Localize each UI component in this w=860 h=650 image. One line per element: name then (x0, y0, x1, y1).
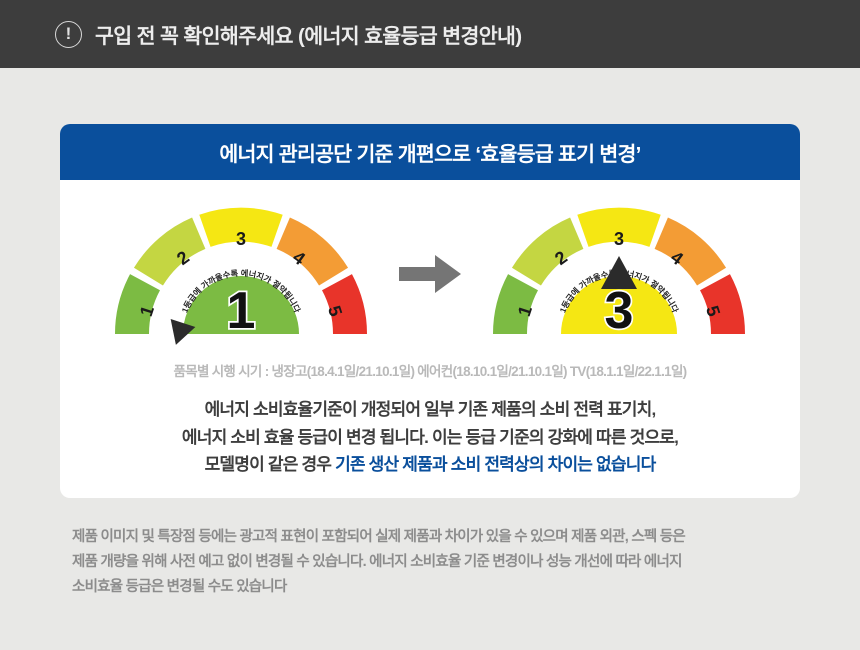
segment-label-3: 3 (236, 229, 246, 249)
gauge-after: 1 2 3 4 5 1등급에 가까울수록 에너지가 절약됩니다 3 (489, 201, 749, 347)
segment-4 (661, 233, 711, 276)
notice-card-title: 에너지 관리공단 기준 개편으로 ‘효율등급 표기 변경’ (219, 137, 640, 167)
page-header: ! 구입 전 꼭 확인해주세요 (에너지 효율등급 변경안내) (0, 0, 860, 68)
disclaimer-line-1: 제품 이미지 및 특장점 등에는 광고적 표현이 포함되어 실제 제품과 차이가… (72, 525, 792, 550)
segment-4 (283, 233, 333, 276)
gauge-after-svg: 1 2 3 4 5 1등급에 가까울수록 에너지가 절약됩니다 3 (489, 201, 749, 347)
notice-paragraph-line-1: 에너지 소비효율기준이 개정되어 일부 기존 제품의 소비 전력 표기치, (60, 396, 800, 424)
notice-paragraph-line-2: 에너지 소비 효율 등급이 변경 됩니다. 이는 등급 기준의 강화에 따른 것… (60, 424, 800, 452)
gauge-after-grade: 3 (605, 282, 634, 340)
notice-paragraph-line-3: 모델명이 같은 경우 기존 생산 제품과 소비 전력상의 차이는 없습니다 (60, 451, 800, 479)
disclaimer: 제품 이미지 및 특장점 등에는 광고적 표현이 포함되어 실제 제품과 차이가… (72, 525, 792, 600)
gauge-before: 1 2 3 4 5 1등급에 가까울수록 에너지가 절약됩니다 1 (111, 201, 371, 347)
exclamation-circle-icon: ! (55, 21, 82, 48)
gauge-before-grade: 1 (227, 282, 256, 340)
schedule-note: 품목별 시행 시기 : 냉장고(18.4.1일/21.10.1일) 에어컨(18… (60, 360, 800, 380)
notice-card: 에너지 관리공단 기준 개편으로 ‘효율등급 표기 변경’ (60, 124, 800, 498)
disclaimer-line-2: 제품 개량을 위해 사전 예고 없이 변경될 수 있습니다. 에너지 소비효율 … (72, 550, 792, 575)
notice-paragraph-highlight: 기존 생산 제품과 소비 전력상의 차이는 없습니다 (335, 455, 655, 474)
gauge-comparison: 1 2 3 4 5 1등급에 가까울수록 에너지가 절약됩니다 1 (60, 194, 800, 354)
gauge-before-svg: 1 2 3 4 5 1등급에 가까울수록 에너지가 절약됩니다 1 (111, 201, 371, 347)
exclamation-mark: ! (66, 25, 72, 42)
page-header-title: 구입 전 꼭 확인해주세요 (에너지 효율등급 변경안내) (95, 19, 522, 49)
notice-paragraph: 에너지 소비효율기준이 개정되어 일부 기존 제품의 소비 전력 표기치, 에너… (60, 396, 800, 479)
notice-card-header: 에너지 관리공단 기준 개편으로 ‘효율등급 표기 변경’ (60, 124, 800, 180)
right-arrow-icon (397, 252, 463, 296)
segment-label-3: 3 (614, 229, 624, 249)
notice-paragraph-line-3-plain: 모델명이 같은 경우 (205, 455, 336, 474)
disclaimer-line-3: 소비효율 등급은 변경될 수도 있습니다 (72, 575, 792, 600)
notice-card-body: 1 2 3 4 5 1등급에 가까울수록 에너지가 절약됩니다 1 (60, 180, 800, 479)
